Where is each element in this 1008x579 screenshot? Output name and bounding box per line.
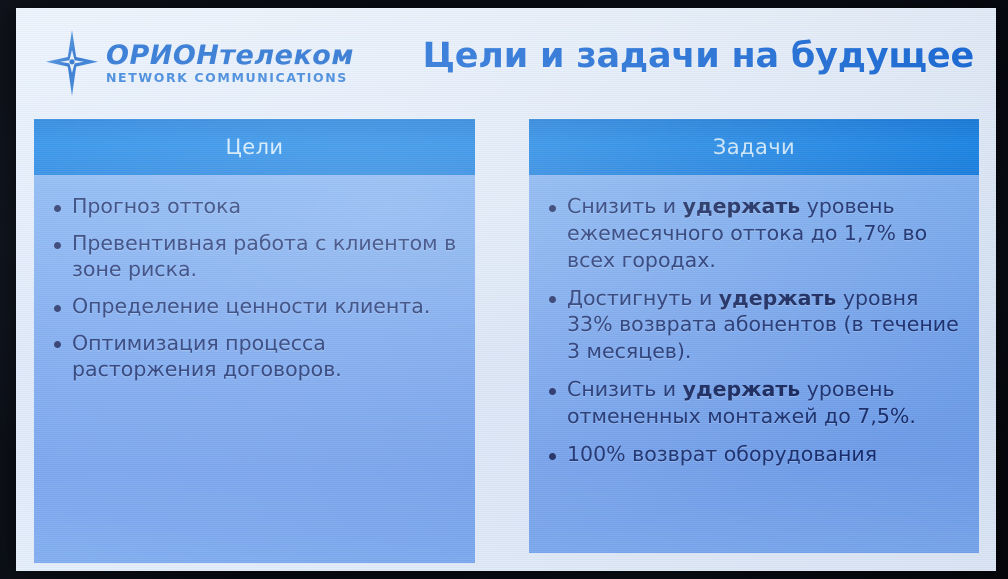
- bullet-item: Превентивная работа с клиентом в зоне ри…: [50, 230, 461, 283]
- panel-tasks-title: Задачи: [713, 135, 795, 159]
- panel-goals-header: Цели: [34, 119, 475, 175]
- bullet-item: Определение ценности клиента.: [50, 293, 461, 320]
- bullet-text: 100% возврат оборудования: [567, 442, 877, 466]
- compass-star-icon: [46, 30, 98, 96]
- logo-brand-line: ОРИОНтелеком: [106, 42, 354, 69]
- panel-tasks-header: Задачи: [529, 119, 979, 175]
- slide-title: Цели и задачи на будущее: [422, 36, 974, 76]
- bullet-item: Снизить и удержать уровень отмененных мо…: [545, 376, 965, 430]
- bullet-text: Превентивная работа с клиентом в зоне ри…: [72, 231, 456, 282]
- panel-tasks-body: Снизить и удержать уровень ежемесячного …: [529, 175, 979, 468]
- panel-goals-title: Цели: [226, 135, 284, 159]
- bullet-text: Определение ценности клиента.: [72, 294, 430, 318]
- bullet-text: Снизить и: [567, 377, 683, 401]
- bullet-emphasis: удержать: [683, 194, 801, 218]
- bullet-text: Прогноз оттока: [72, 194, 241, 218]
- bullet-text: Оптимизация процесса расторжения договор…: [72, 331, 342, 382]
- bullet-emphasis: удержать: [683, 377, 801, 401]
- bullet-item: Достигнуть и удержать уровня 33% возврат…: [545, 285, 965, 366]
- logo-tagline: NETWORK COMMUNICATIONS: [106, 72, 354, 85]
- bullet-emphasis: удержать: [719, 286, 837, 310]
- tasks-bullet-list: Снизить и удержать уровень ежемесячного …: [545, 193, 965, 468]
- bullet-item: Снизить и удержать уровень ежемесячного …: [545, 193, 965, 274]
- company-logo: ОРИОНтелеком NETWORK COMMUNICATIONS: [46, 30, 354, 96]
- panel-goals-body: Прогноз оттокаПревентивная работа с клие…: [34, 175, 475, 383]
- logo-wordmark: ОРИОНтелеком NETWORK COMMUNICATIONS: [106, 42, 354, 85]
- bullet-text: Снизить и: [567, 194, 683, 218]
- bullet-item: Оптимизация процесса расторжения договор…: [50, 330, 461, 383]
- bullet-text: Достигнуть и: [567, 286, 719, 310]
- presentation-slide: ОРИОНтелеком NETWORK COMMUNICATIONS Цели…: [16, 8, 996, 571]
- panel-tasks: Задачи Снизить и удержать уровень ежемес…: [529, 119, 979, 553]
- bullet-item: 100% возврат оборудования: [545, 441, 965, 468]
- projected-slide-photo: ОРИОНтелеком NETWORK COMMUNICATIONS Цели…: [0, 0, 1008, 579]
- panel-goals: Цели Прогноз оттокаПревентивная работа с…: [34, 119, 475, 563]
- logo-brand-orion: ОРИОН: [106, 40, 219, 71]
- slide-header: ОРИОНтелеком NETWORK COMMUNICATIONS Цели…: [16, 8, 996, 104]
- goals-bullet-list: Прогноз оттокаПревентивная работа с клие…: [50, 193, 461, 383]
- logo-brand-telecom: телеком: [219, 40, 354, 71]
- bullet-item: Прогноз оттока: [50, 193, 461, 220]
